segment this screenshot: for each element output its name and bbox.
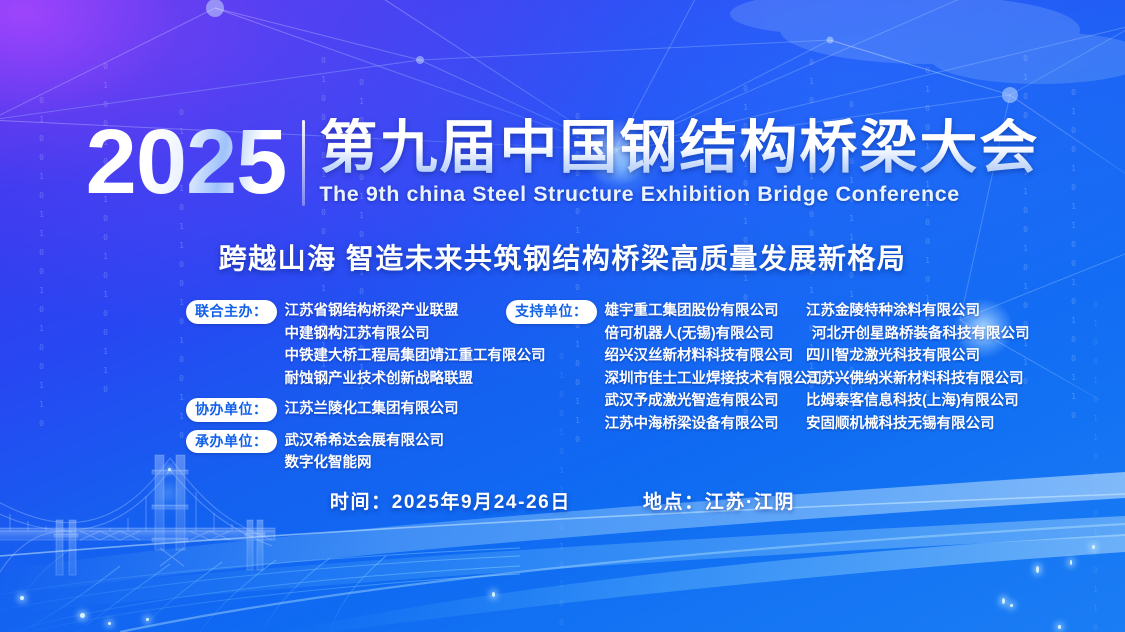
list-item: 江苏金陵特种涂料有限公司	[806, 300, 1030, 323]
event-location-label: 地点：	[643, 492, 705, 513]
organizer-badge-co-host: 联合主办：	[186, 300, 277, 324]
organizer-list: 江苏兰陵化工集团有限公司	[285, 398, 459, 421]
list-item: 江苏兴佛纳米新材料科技有限公司	[806, 368, 1030, 391]
title-divider	[302, 120, 305, 206]
list-item: 河北开创星路桥装备科技有限公司	[806, 323, 1030, 346]
slogan-text: 跨越山海 智造未来共筑钢结构桥梁高质量发展新格局	[0, 237, 1125, 277]
list-item: 绍兴汉丝新材料科技有限公司	[605, 345, 823, 368]
organizers-column-left: 联合主办： 江苏省钢结构桥梁产业联盟 中建钢构江苏有限公司 中铁建大桥工程局集团…	[186, 300, 546, 483]
event-date: 时间：2025年9月24-26日	[330, 487, 571, 514]
page-subtitle: The 9th china Steel Structure Exhibition…	[319, 182, 1039, 207]
year-text: 2025	[86, 120, 303, 205]
event-date-label: 时间：	[330, 492, 392, 513]
list-item: 四川智龙激光科技有限公司	[806, 345, 1030, 368]
event-location: 地点：江苏·江阴	[643, 487, 795, 514]
organizer-group: 支持单位： 雄宇重工集团股份有限公司 倍可机器人(无锡)有限公司 绍兴汉丝新材料…	[506, 300, 822, 435]
organizers-column-middle: 支持单位： 雄宇重工集团股份有限公司 倍可机器人(无锡)有限公司 绍兴汉丝新材料…	[506, 300, 822, 443]
organizers-section: 联合主办： 江苏省钢结构桥梁产业联盟 中建钢构江苏有限公司 中铁建大桥工程局集团…	[0, 300, 1125, 450]
organizer-group: 联合主办： 江苏省钢结构桥梁产业联盟 中建钢构江苏有限公司 中铁建大桥工程局集团…	[186, 300, 546, 390]
organizer-badge-undertaker: 承办单位：	[186, 430, 277, 454]
conference-banner: 0 1 0 0 1 0 1 1 0 0 1 0 1 0 0 1 1 0 0 1 …	[0, 0, 1125, 632]
title-row: 2025 第九届中国钢结构桥梁大会 The 9th china Steel St…	[0, 118, 1125, 207]
list-item: 江苏兰陵化工集团有限公司	[285, 398, 459, 421]
list-item: 安固顺机械科技无锡有限公司	[806, 413, 1030, 436]
organizer-group: 承办单位： 武汉希希达会展有限公司 数字化智能网	[186, 430, 546, 475]
organizer-list: 武汉希希达会展有限公司 数字化智能网	[285, 430, 445, 475]
list-item: 武汉希希达会展有限公司	[285, 430, 445, 453]
list-item: 武汉予成激光智造有限公司	[605, 390, 823, 413]
banner-content: 2025 第九届中国钢结构桥梁大会 The 9th china Steel St…	[0, 0, 1125, 632]
list-item: 倍可机器人(无锡)有限公司	[605, 323, 823, 346]
list-item: 深圳市佳士工业焊接技术有限公司	[605, 368, 823, 391]
list-item: 江苏中海桥梁设备有限公司	[605, 413, 823, 436]
organizer-badge-supporter: 支持单位：	[506, 300, 597, 324]
organizer-group: 协办单位： 江苏兰陵化工集团有限公司	[186, 398, 546, 422]
title-block: 第九届中国钢结构桥梁大会 The 9th china Steel Structu…	[319, 118, 1039, 207]
organizers-column-right: 江苏金陵特种涂料有限公司 河北开创星路桥装备科技有限公司 四川智龙激光科技有限公…	[806, 300, 1030, 435]
supporter-list: 雄宇重工集团股份有限公司 倍可机器人(无锡)有限公司 绍兴汉丝新材料科技有限公司…	[605, 300, 823, 435]
list-item: 比姆泰客信息科技(上海)有限公司	[806, 390, 1030, 413]
organizer-badge-cooperating: 协办单位：	[186, 398, 277, 422]
page-title: 第九届中国钢结构桥梁大会	[319, 118, 1039, 177]
event-date-value: 2025年9月24-26日	[392, 492, 571, 513]
event-location-value: 江苏·江阴	[705, 492, 795, 513]
list-item: 雄宇重工集团股份有限公司	[605, 300, 823, 323]
list-item: 数字化智能网	[285, 452, 445, 475]
event-details-footer: 时间：2025年9月24-26日 地点：江苏·江阴	[0, 487, 1125, 514]
supporter-list-continued: 江苏金陵特种涂料有限公司 河北开创星路桥装备科技有限公司 四川智龙激光科技有限公…	[806, 300, 1030, 435]
